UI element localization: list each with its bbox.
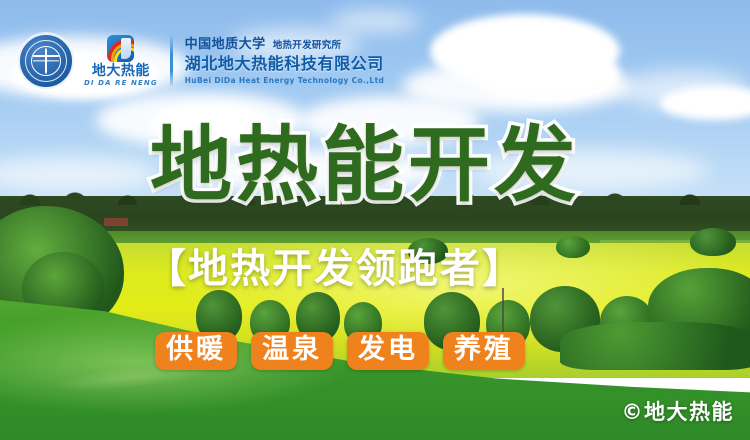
brand-mark-group: 地大热能 DI DA RE NENG [84,35,158,87]
right-hedgerow [560,322,750,370]
service-tag-hot-spring[interactable]: 温泉 [251,332,333,370]
logo-divider [170,36,173,86]
logo-blade-shape [121,38,131,59]
horizon-barn [104,218,128,226]
organization-top-row: 中国地质大学 地热开发研究所 [185,37,385,52]
service-tag-heating[interactable]: 供暖 [155,332,237,370]
cloud [0,156,160,192]
brand-name-cn: 地大热能 [92,64,150,78]
organization-block: 中国地质大学 地热开发研究所 湖北地大热能科技有限公司 HuBei DiDa H… [185,37,385,84]
cloud [402,60,632,112]
university-name: 中国地质大学 [185,38,266,52]
service-tag-list: 供暖 温泉 发电 养殖 [155,332,525,370]
page-title: 地热能开发 [150,125,580,207]
geothermal-banner: 地大热能 DI DA RE NENG 中国地质大学 地热开发研究所 湖北地大热能… [0,0,750,440]
service-tag-power-generation[interactable]: 发电 [347,332,429,370]
header-logo-lockup: 地大热能 DI DA RE NENG 中国地质大学 地热开发研究所 湖北地大热能… [18,30,384,92]
institute-name: 地热开发研究所 [273,37,342,51]
copyright-notice: ©地大热能 [622,396,735,426]
seal-stem [45,49,48,73]
tree [690,228,736,256]
page-subtitle: 【地热开发领跑者】 [146,249,524,289]
company-name-en: HuBei DiDa Heat Energy Technology Co.,Lt… [185,76,385,85]
tree [556,236,590,258]
service-tag-aquaculture[interactable]: 养殖 [443,332,525,370]
cloud [330,10,420,32]
university-seal-icon [18,33,74,89]
brand-name-pinyin: DI DA RE NENG [84,80,158,87]
power-pole [502,288,504,336]
cloud [660,86,750,120]
company-name-cn: 湖北地大热能科技有限公司 [185,54,385,74]
rainbow-square-logo-icon [107,35,134,62]
